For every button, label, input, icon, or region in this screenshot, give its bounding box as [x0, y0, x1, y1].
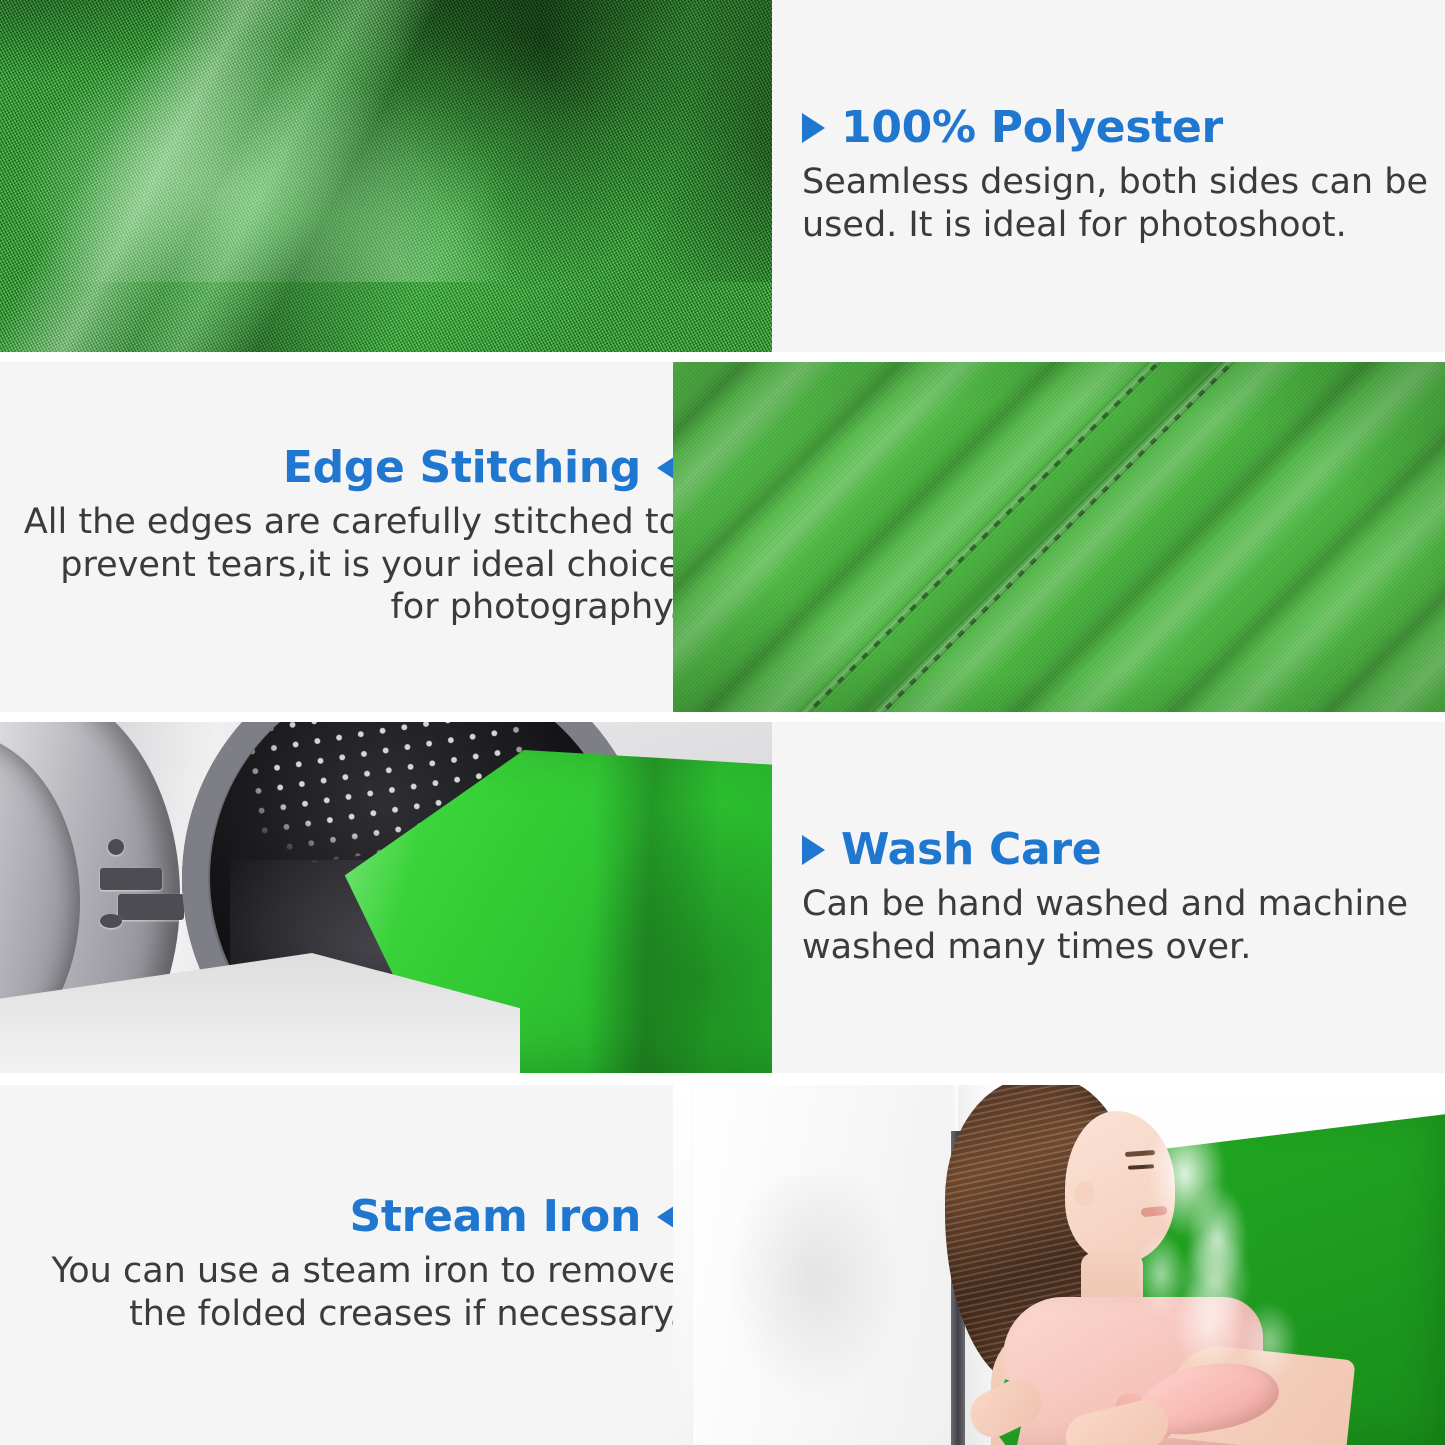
green-fabric-stitched-edges-photo	[673, 362, 1445, 712]
feature-body-polyester: Seamless design, both sides can be used.…	[802, 161, 1445, 246]
woman-ear	[1075, 1181, 1095, 1207]
wall-panel	[693, 1085, 953, 1445]
feature-heading-polyester: 100% Polyester	[802, 105, 1223, 151]
feature-heading-stream-iron: Stream Iron	[350, 1194, 680, 1240]
feature-heading-wash-care: Wash Care	[802, 827, 1101, 873]
feature-title-text: Stream Iron	[350, 1194, 641, 1240]
feature-title-text: 100% Polyester	[841, 105, 1223, 151]
green-woven-fabric-photo	[0, 0, 772, 352]
washer-button-small	[100, 914, 122, 928]
feature-panel-stream-iron: Stream Iron You can use a steam iron to …	[0, 1085, 704, 1445]
feature-body-edge-stitching: All the edges are carefully stitched to …	[20, 501, 680, 629]
washing-machine-with-green-cloth-photo	[0, 722, 772, 1073]
feature-panel-polyester: 100% Polyester Seamless design, both sid…	[772, 0, 1445, 352]
triangle-right-icon	[802, 113, 825, 143]
woman-steaming-green-backdrop-photo	[673, 1085, 1445, 1445]
washer-latch-upper	[100, 868, 162, 890]
washer-button-round	[108, 839, 124, 855]
washer-latch-lower	[118, 894, 184, 920]
fabric-sheen	[0, 0, 772, 352]
feature-title-text: Edge Stitching	[283, 445, 641, 491]
feature-title-text: Wash Care	[841, 827, 1101, 873]
feature-body-stream-iron: You can use a steam iron to remove the f…	[20, 1250, 680, 1335]
feature-panel-wash-care: Wash Care Can be hand washed and machine…	[772, 722, 1445, 1073]
stitch-vignette	[673, 362, 1445, 712]
feature-heading-edge-stitching: Edge Stitching	[283, 445, 680, 491]
feature-body-wash-care: Can be hand washed and machine washed ma…	[802, 883, 1445, 968]
triangle-right-icon	[802, 835, 825, 865]
feature-panel-edge-stitching: Edge Stitching All the edges are careful…	[0, 362, 704, 712]
product-feature-infographic: 100% Polyester Seamless design, both sid…	[0, 0, 1445, 1445]
